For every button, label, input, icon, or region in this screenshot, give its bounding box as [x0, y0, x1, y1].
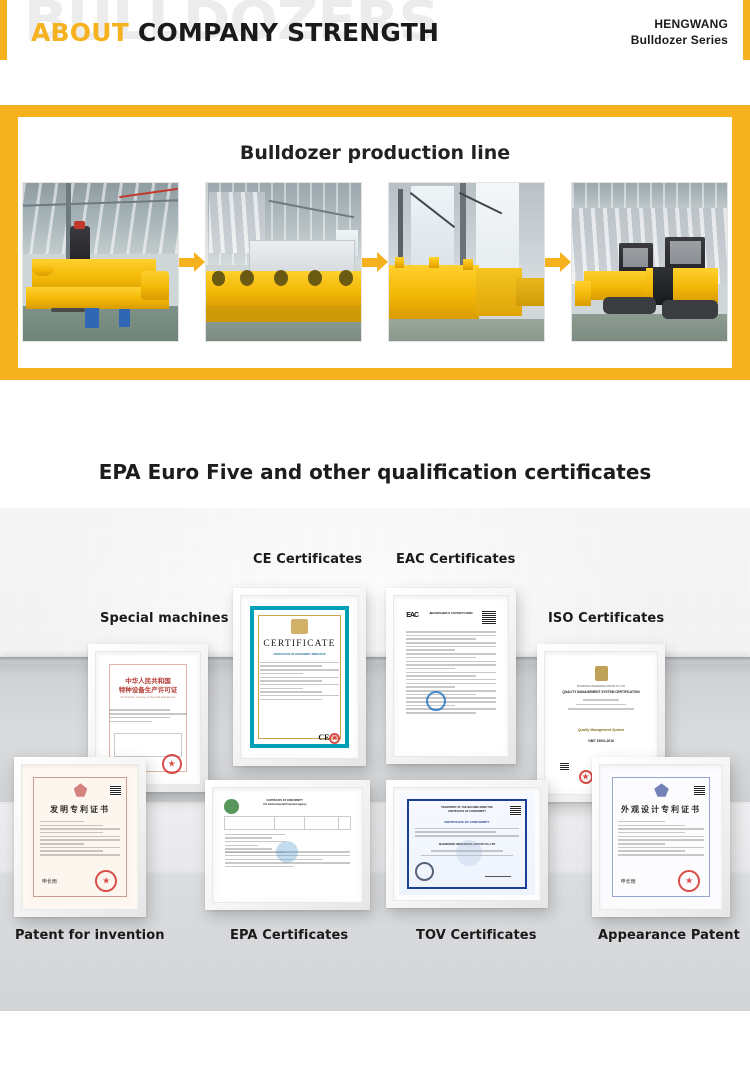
certificate-frame-tov[interactable]: TRANSPORT OF THE MACHINE DIRECTIVECERTIF… [386, 780, 548, 908]
page-title-rest: COMPANY STRENGTH [138, 18, 439, 47]
ce-certificate-heading: CERTIFICATE [246, 639, 353, 649]
label-tov-certificates: TOV Certificates [416, 928, 537, 943]
production-photo-engine-assembly [22, 182, 179, 342]
page-title: ABOUT COMPANY STRENGTH [31, 20, 439, 45]
production-arrow-3 [545, 252, 571, 272]
production-step-row [18, 182, 732, 342]
production-arrow-2 [362, 252, 388, 272]
brand-block: HENGWANG Bulldozer Series [631, 17, 728, 48]
production-line-title: Bulldozer production line [18, 117, 732, 164]
certificates-section: EPA Euro Five and other qualification ce… [0, 380, 750, 1091]
brand-series: Bulldozer Series [631, 33, 728, 49]
label-appearance-patent: Appearance Patent [598, 928, 740, 943]
certificates-section-title: EPA Euro Five and other qualification ce… [0, 380, 750, 484]
label-special-machines: Special machines [100, 611, 229, 626]
page-header: BULLDOZERS ABOUT COMPANY STRENGTH HENGWA… [0, 0, 750, 60]
production-photo-chassis-line [205, 182, 362, 342]
label-iso-certificates: ISO Certificates [548, 611, 664, 626]
about-company-strength-page: BULLDOZERS ABOUT COMPANY STRENGTH HENGWA… [0, 0, 750, 1091]
label-epa-certificates: EPA Certificates [230, 928, 348, 943]
certificate-frame-appearance-patent[interactable]: 外观设计专利证书 申长雨 [592, 757, 730, 917]
page-title-accent: ABOUT [31, 18, 129, 47]
certificate-frame-eac[interactable]: EAC ДЕКЛАРАЦИЯ О СООТВЕТСТВИИ [386, 588, 516, 764]
certificate-frame-epa[interactable]: CERTIFICATE OF CONFORMITYU.S. Environmen… [205, 780, 370, 910]
header-accent-bar-left [0, 0, 7, 60]
production-photo-finished-units [571, 182, 728, 342]
production-photo-blade-fabrication [388, 182, 545, 342]
production-line-panel: Bulldozer production line [0, 105, 750, 380]
label-eac-certificates: EAC Certificates [396, 552, 515, 567]
certificate-frame-ce[interactable]: CERTIFICATE CERTIFICATE OF MACHINERY DIR… [233, 588, 366, 766]
label-ce-certificates: CE Certificates [253, 552, 362, 567]
certificate-frame-patent-invention[interactable]: 发明专利证书 申长雨 [14, 757, 146, 917]
label-patent-for-invention: Patent for invention [15, 928, 165, 943]
production-line-inner: Bulldozer production line [18, 117, 732, 368]
production-arrow-1 [179, 252, 205, 272]
brand-name: HENGWANG [631, 17, 728, 33]
header-accent-bar-right [743, 0, 750, 60]
